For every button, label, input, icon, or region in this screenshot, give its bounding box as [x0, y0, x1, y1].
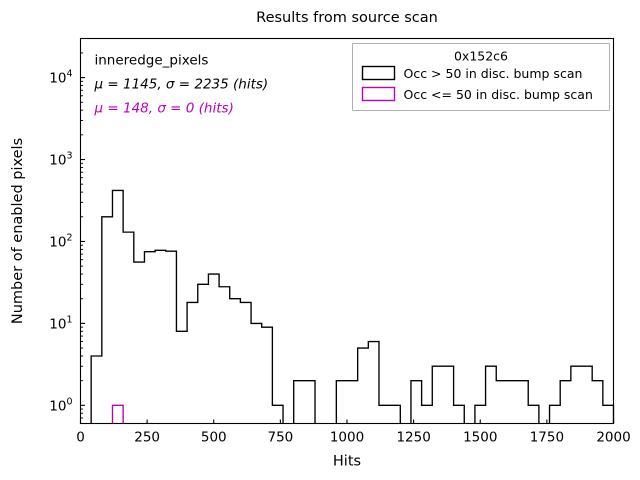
- y-tick-label: 102: [49, 232, 72, 250]
- x-tick-label: 500: [201, 430, 227, 446]
- x-tick-label: 0: [76, 430, 85, 446]
- legend-entry-label: Occ <= 50 in disc. bump scan: [404, 87, 593, 102]
- legend-entry-label: Occ > 50 in disc. bump scan: [404, 66, 583, 81]
- x-tick-label: 750: [267, 430, 293, 446]
- x-axis-label: Hits: [333, 454, 361, 470]
- y-axis-label: Number of enabled pixels: [10, 138, 26, 324]
- x-tick-label: 2000: [596, 430, 630, 446]
- plot-title: Results from source scan: [256, 10, 438, 26]
- y-tick-label: 103: [49, 151, 72, 169]
- x-tick-label: 1500: [463, 430, 497, 446]
- histogram-plot: Results from source scan0250500750100012…: [0, 0, 640, 480]
- y-tick-label: 100: [49, 396, 72, 414]
- histogram-series-0: [91, 190, 613, 423]
- annotation-stats-magenta: μ = 148, σ = 0 (hits): [94, 101, 234, 117]
- y-tick-label: 104: [49, 69, 72, 87]
- annotation-stats-black: μ = 1145, σ = 2235 (hits): [94, 77, 269, 93]
- legend-title: 0x152c6: [454, 49, 508, 64]
- histogram-series-1: [112, 405, 123, 423]
- x-tick-label: 1250: [396, 430, 430, 446]
- annotation-name: inneredge_pixels: [95, 53, 209, 69]
- y-tick-label: 101: [49, 314, 72, 332]
- x-tick-label: 1750: [530, 430, 564, 446]
- x-tick-label: 250: [134, 430, 160, 446]
- figure-canvas: Results from source scan0250500750100012…: [0, 0, 640, 480]
- x-tick-label: 1000: [330, 430, 364, 446]
